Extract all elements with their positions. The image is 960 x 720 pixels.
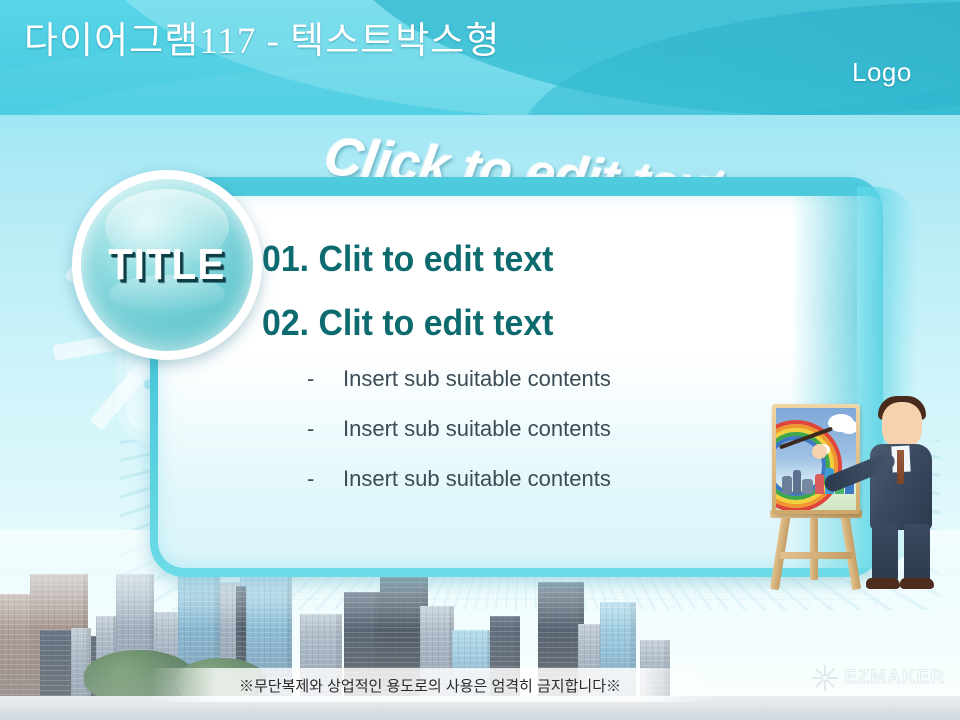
slide-canvas: 다이어그램117 - 텍스트박스형 Logo Click to edit tex… (0, 0, 960, 720)
ezmaker-wordmark: EZMAKER (844, 667, 945, 689)
painting-canvas (776, 408, 856, 510)
sun-ray (826, 679, 835, 688)
copyright-notice: ※무단복제와 상업적인 용도로의 사용은 엄격히 금지합니다※ (150, 668, 710, 702)
necktie (897, 450, 904, 484)
logo-placeholder[interactable]: Logo (852, 57, 912, 88)
businessman-easel-illustration (760, 392, 960, 592)
footer-notice-band: ※무단복제와 상업적인 용도로의 사용은 엄격히 금지합니다※ (150, 668, 710, 702)
title-badge-sphere: TITLE (81, 179, 253, 351)
sun-ray (812, 677, 823, 679)
mini-building (815, 474, 824, 494)
cloud-icon (840, 420, 856, 434)
easel-leg-left (770, 512, 791, 590)
shoe-left (866, 578, 900, 589)
head (882, 402, 922, 448)
sun-icon (810, 663, 840, 693)
shoe-right (900, 578, 934, 589)
bullet-text[interactable]: Insert sub suitable contents (343, 365, 611, 393)
businessman-figure (856, 392, 956, 588)
title-badge-circle[interactable]: TITLE (72, 170, 262, 360)
bullet-dash-icon: - (307, 465, 343, 493)
numbered-item-2[interactable]: 02. Clit to edit text (262, 302, 553, 344)
sun-ray (827, 677, 838, 679)
mini-building (782, 476, 792, 494)
leg-left (872, 524, 898, 582)
numbered-item-1[interactable]: 01. Clit to edit text (262, 238, 553, 280)
ezmaker-watermark: EZMAKER (810, 658, 950, 698)
mini-building (802, 479, 813, 494)
deck-title: 다이어그램117 - 텍스트박스형 (24, 10, 500, 64)
sun-ray (824, 680, 826, 691)
sun-ray (826, 668, 835, 677)
leg-right (904, 524, 930, 582)
sun-ray (815, 668, 824, 677)
title-badge-label: TITLE (108, 240, 225, 290)
sun-ray (815, 679, 824, 688)
hand (812, 444, 827, 459)
list-item[interactable]: - Insert sub suitable contents (307, 415, 827, 443)
easel-crossbar (780, 552, 852, 559)
bullet-text[interactable]: Insert sub suitable contents (343, 415, 611, 443)
list-item[interactable]: - Insert sub suitable contents (307, 465, 827, 493)
bullet-dash-icon: - (307, 365, 343, 393)
bullet-text[interactable]: Insert sub suitable contents (343, 465, 611, 493)
painting-frame (772, 404, 860, 514)
mini-building (793, 470, 801, 494)
easel-leg-center (810, 518, 818, 580)
bullet-dash-icon: - (307, 415, 343, 443)
bullet-list: - Insert sub suitable contents - Insert … (307, 365, 827, 515)
list-item[interactable]: - Insert sub suitable contents (307, 365, 827, 393)
